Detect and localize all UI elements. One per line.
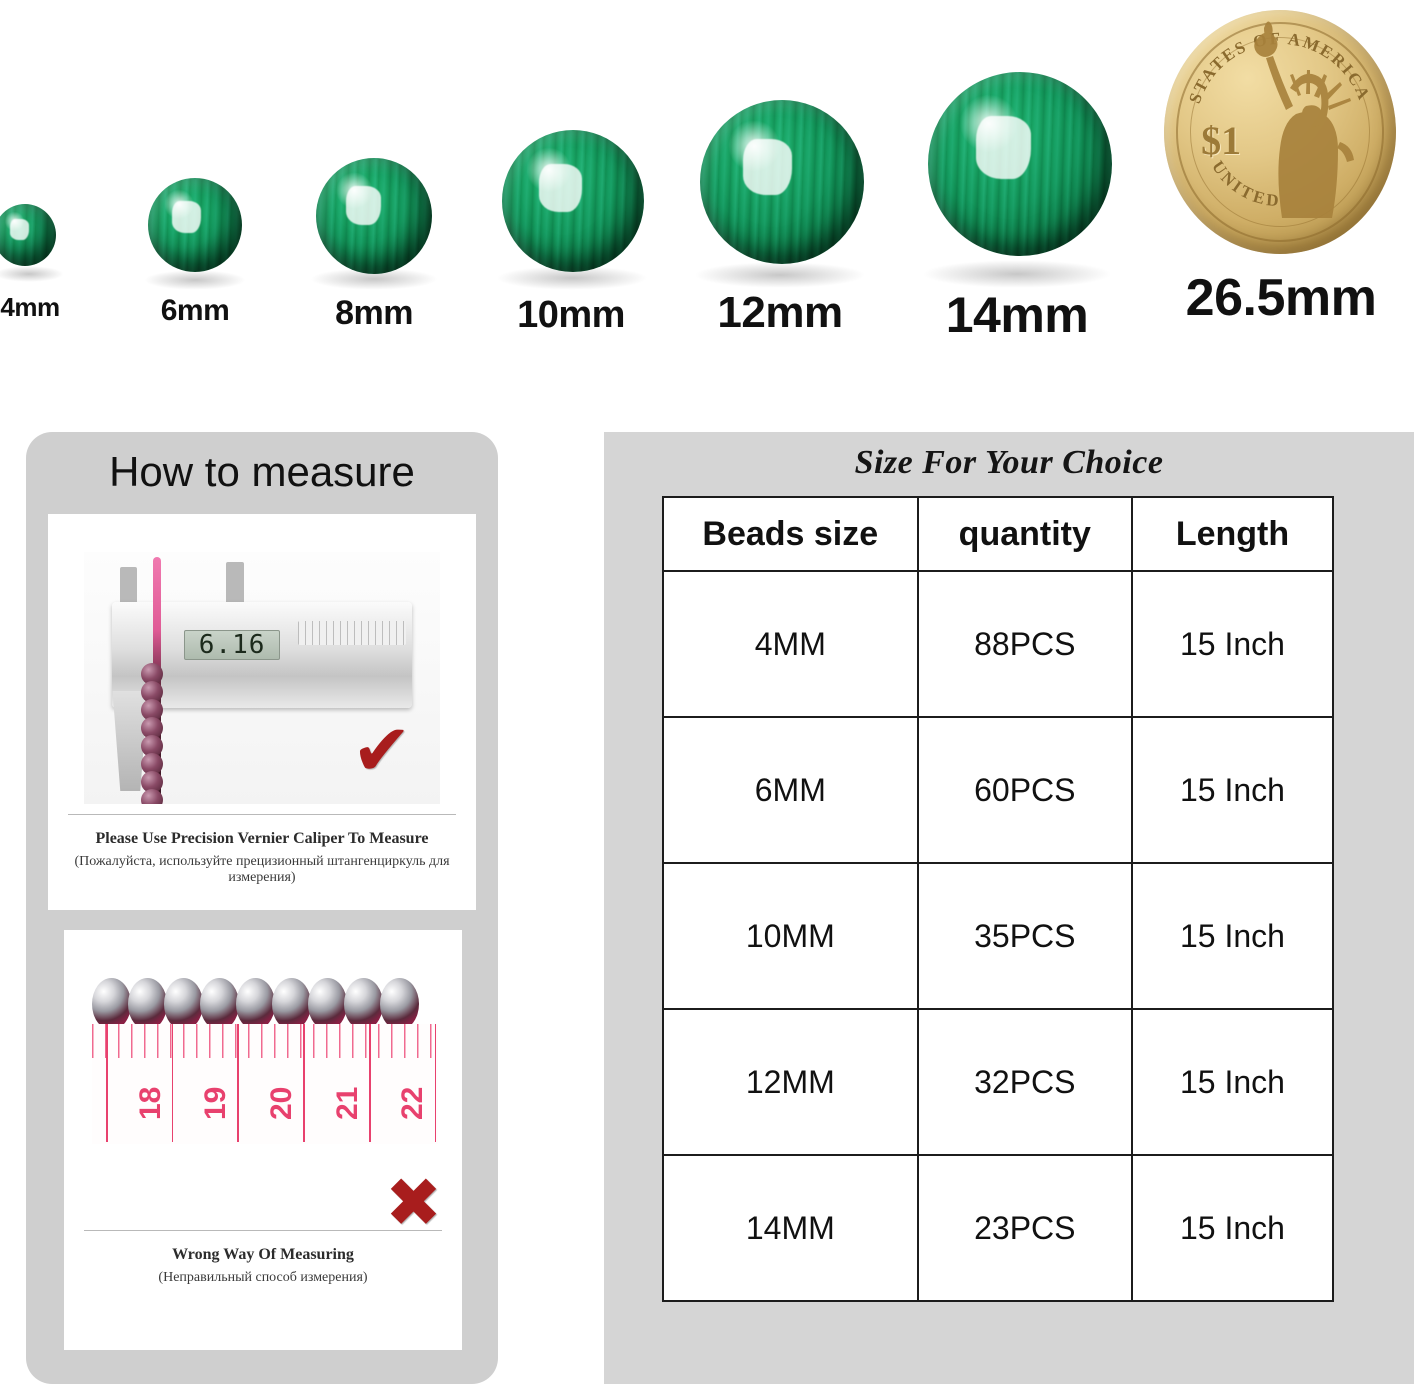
coin-graphic: STATES OF AMERICA UNITED [1164, 10, 1396, 254]
cell-length: 15 Inch [1132, 717, 1333, 863]
cell-length: 15 Inch [1132, 863, 1333, 1009]
tape-number: 18 [134, 1087, 168, 1120]
table-header-row: Beads size quantity Length [663, 497, 1333, 571]
bead-label-4mm: 4mm [0, 292, 74, 323]
product-size-infographic: 4mm 6mm 8mm 10mm 12mm [0, 0, 1414, 1384]
tape-number: 22 [396, 1087, 430, 1120]
bead-sphere-12mm [700, 100, 864, 264]
wrong-caption-ru: (Неправильный способ измерения) [64, 1270, 462, 1286]
bead-sphere-4mm [0, 204, 56, 266]
caliper-reading-value: 6.16 [199, 630, 266, 660]
bead-sphere-14mm [928, 72, 1112, 256]
tape-major-marks: 18 19 20 21 22 [92, 1024, 438, 1142]
tape-number: 21 [331, 1087, 365, 1120]
bead-sphere-10mm [502, 130, 644, 272]
table-row: 14MM 23PCS 15 Inch [663, 1155, 1333, 1301]
x-mark-icon: ✖ [385, 1170, 442, 1238]
tape-number: 20 [265, 1087, 299, 1120]
size-table-panel: Size For Your Choice Beads size quantity… [604, 432, 1414, 1384]
how-to-measure-panel: How to measure 6.16 [26, 432, 498, 1384]
bead-label-12mm: 12mm [676, 288, 884, 338]
cell-size: 6MM [663, 717, 918, 863]
tape-measure-photo: 18 19 20 21 22 [92, 954, 438, 1166]
bead-label-10mm: 10mm [478, 294, 664, 337]
size-table-title: Size For Your Choice [604, 444, 1414, 482]
cell-length: 15 Inch [1132, 1009, 1333, 1155]
cell-size: 4MM [663, 571, 918, 717]
metal-bead-strand [92, 978, 438, 1030]
cell-length: 15 Inch [1132, 571, 1333, 717]
bead-shadow [0, 266, 64, 282]
bead-size-comparison-row: 4mm 6mm 8mm 10mm 12mm [0, 0, 1414, 400]
caption-divider [84, 1230, 442, 1231]
cell-quantity: 32PCS [918, 1009, 1132, 1155]
caliper-scale [298, 621, 406, 644]
cell-size: 10MM [663, 863, 918, 1009]
bottom-section: How to measure 6.16 [0, 432, 1414, 1384]
cell-quantity: 23PCS [918, 1155, 1132, 1301]
tape-number: 19 [199, 1087, 233, 1120]
bead-sphere-8mm [316, 158, 432, 274]
table-row: 12MM 32PCS 15 Inch [663, 1009, 1333, 1155]
coin-denomination: $1 [1201, 117, 1241, 164]
column-header-beads-size: Beads size [663, 497, 918, 571]
bead-label-6mm: 6mm [130, 294, 260, 328]
bead-shadow [922, 260, 1112, 288]
bead-sphere-6mm [148, 178, 242, 272]
bead-shadow [694, 262, 866, 288]
measured-bead-strand [141, 663, 162, 799]
bead-label-coin: 26.5mm [1148, 268, 1414, 328]
correct-caption-ru: (Пожалуйста, используйте прецизионный шт… [48, 854, 476, 886]
coin-face: STATES OF AMERICA UNITED [1164, 10, 1396, 254]
column-header-quantity: quantity [918, 497, 1132, 571]
tape-measure-body: 18 19 20 21 22 [92, 1024, 438, 1144]
cell-quantity: 35PCS [918, 863, 1132, 1009]
statue-of-liberty-icon: STATES OF AMERICA UNITED [1164, 10, 1396, 242]
how-to-measure-title: How to measure [26, 448, 498, 496]
table-row: 6MM 60PCS 15 Inch [663, 717, 1333, 863]
bead-shadow [144, 270, 246, 290]
caliper-photo: 6.16 ✔ [84, 552, 440, 804]
caliper-jaw-top-right [226, 562, 244, 607]
caliper-lcd-display: 6.16 [184, 630, 280, 660]
wrong-caption-en: Wrong Way Of Measuring [64, 1246, 462, 1264]
checkmark-icon: ✔ [352, 714, 412, 786]
cell-quantity: 60PCS [918, 717, 1132, 863]
svg-text:UNITED: UNITED [1208, 157, 1282, 210]
correct-method-card: 6.16 ✔ Please Use Precision Vernier Cali… [48, 514, 476, 910]
wrong-method-card: 18 19 20 21 22 ✖ Wrong Way Of Measuring … [64, 930, 462, 1350]
cell-size: 12MM [663, 1009, 918, 1155]
bead-label-14mm: 14mm [902, 286, 1132, 344]
cell-quantity: 88PCS [918, 571, 1132, 717]
table-row: 10MM 35PCS 15 Inch [663, 863, 1333, 1009]
table-row: 4MM 88PCS 15 Inch [663, 571, 1333, 717]
size-table: Beads size quantity Length 4MM 88PCS 15 … [662, 496, 1334, 1302]
cell-length: 15 Inch [1132, 1155, 1333, 1301]
cell-size: 14MM [663, 1155, 918, 1301]
caption-divider [68, 814, 456, 815]
bead-label-8mm: 8mm [296, 294, 452, 333]
correct-caption-en: Please Use Precision Vernier Caliper To … [48, 830, 476, 848]
column-header-length: Length [1132, 497, 1333, 571]
